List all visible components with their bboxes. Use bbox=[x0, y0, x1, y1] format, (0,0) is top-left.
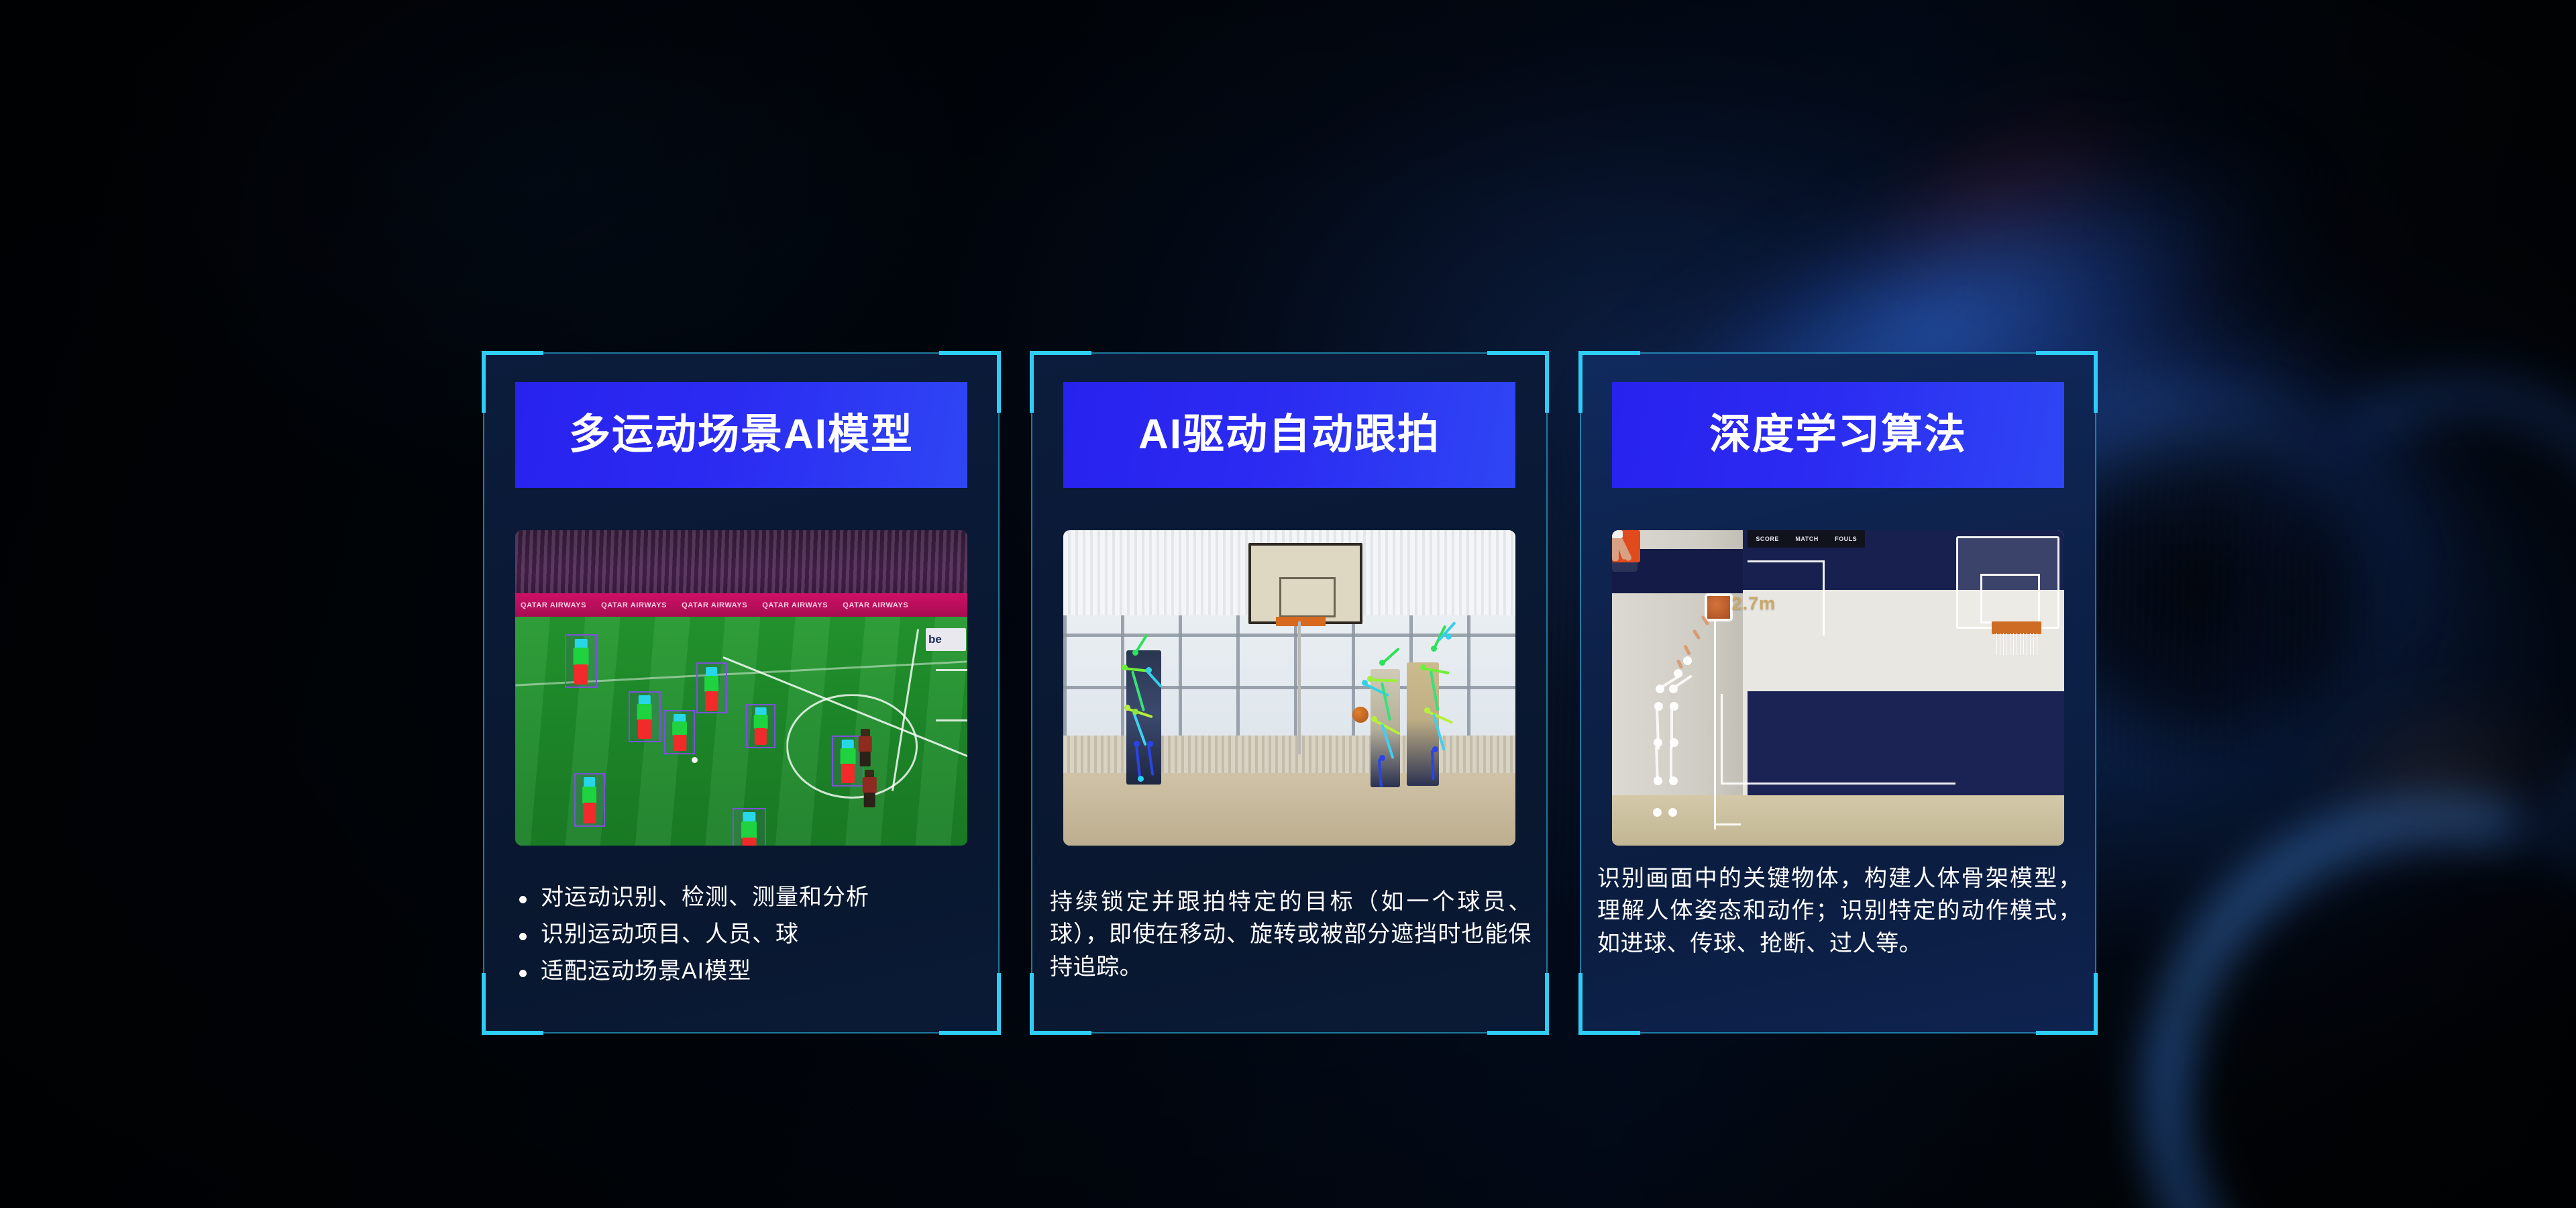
hoop-pole bbox=[1298, 621, 1301, 754]
sponsor-board: QATAR AIRWAYS QATAR AIRWAYS QATAR AIRWAY… bbox=[515, 593, 967, 617]
pose-skeleton bbox=[1118, 638, 1205, 785]
sponsor-text: QATAR AIRWAYS bbox=[682, 601, 747, 609]
pose-keypoint bbox=[1653, 808, 1662, 817]
football-pitch-detection-image: QATAR AIRWAYS QATAR AIRWAYS QATAR AIRWAY… bbox=[515, 530, 967, 846]
corner-bracket-bottom-left bbox=[1578, 973, 1640, 1035]
measure-line-horizontal bbox=[1748, 560, 1825, 562]
measure-line-court-edge bbox=[1721, 783, 1955, 785]
card-edge-bottom bbox=[483, 1032, 1000, 1034]
detection-box bbox=[696, 662, 727, 713]
detection-box bbox=[733, 808, 766, 846]
scoreboard-label: FOULS bbox=[1835, 536, 1857, 542]
card-edge-top bbox=[483, 352, 1000, 354]
backboard bbox=[1248, 543, 1362, 624]
detection-box bbox=[746, 704, 775, 748]
pose-keypoint bbox=[1668, 808, 1677, 817]
measure-line-court-vertical bbox=[1721, 694, 1723, 783]
scoreboard-label: MATCH bbox=[1795, 536, 1818, 542]
pose-bone bbox=[1670, 746, 1672, 784]
card-body-text: 识别画面中的关键物体，构建人体骨架模型，理解人体姿态和动作；识别特定的动作模式，… bbox=[1597, 862, 2082, 960]
list-item: 对运动识别、检测、测量和分析 bbox=[510, 883, 981, 913]
scoreboard-label: SCORE bbox=[1756, 536, 1779, 542]
card-edge-top bbox=[1580, 352, 2096, 354]
card-edge-bottom bbox=[1580, 1032, 2096, 1034]
card-edge-right bbox=[998, 352, 1000, 1034]
feature-description: 持续锁定并跟拍特定的目标（如一个球员、球），即使在移动、旋转或被部分遮挡时也能保… bbox=[1050, 886, 1532, 983]
feature-card-multi-sport-ai-model[interactable]: 多运动场景AI模型 QATAR AIRWAYS QATAR AIRWAYS QA… bbox=[483, 352, 1000, 1034]
undetected-player bbox=[859, 770, 880, 807]
undetected-player bbox=[855, 729, 876, 766]
backboard bbox=[1956, 536, 2059, 629]
measure-line-baseline bbox=[1714, 823, 1741, 825]
card-edge-left bbox=[1031, 352, 1032, 1034]
list-item: 适配运动场景AI模型 bbox=[510, 956, 981, 987]
sponsor-text: QATAR AIRWAYS bbox=[843, 601, 908, 609]
feature-card-row: 多运动场景AI模型 QATAR AIRWAYS QATAR AIRWAYS QA… bbox=[0, 0, 2576, 1208]
sponsor-text: QATAR AIRWAYS bbox=[521, 601, 586, 609]
list-item: 识别运动项目、人员、球 bbox=[510, 919, 981, 950]
basketball-gym-pose-image bbox=[1063, 530, 1515, 846]
card-edge-right bbox=[1546, 352, 1548, 1034]
measure-line-vertical-left bbox=[1714, 615, 1716, 830]
gym-floor bbox=[1612, 795, 2064, 846]
detection-box bbox=[629, 691, 661, 742]
detection-box bbox=[574, 773, 605, 827]
measure-line-vertical-right bbox=[1823, 560, 1825, 636]
card-body-text: 对运动识别、检测、测量和分析 识别运动项目、人员、球 适配运动场景AI模型 bbox=[510, 883, 981, 993]
card-edge-top bbox=[1031, 352, 1548, 354]
feature-bullet-list: 对运动识别、检测、测量和分析 识别运动项目、人员、球 适配运动场景AI模型 bbox=[510, 883, 981, 987]
card-edge-left bbox=[1580, 352, 1581, 1034]
card-edge-right bbox=[2095, 352, 2096, 1034]
corner-bracket-bottom-right bbox=[2036, 973, 2098, 1035]
scoreboard: SCORE MATCH FOULS bbox=[1748, 530, 1865, 548]
ball-tracking-box bbox=[1705, 593, 1733, 621]
card-edge-bottom bbox=[1031, 1032, 1548, 1034]
feature-description: 识别画面中的关键物体，构建人体骨架模型，理解人体姿态和动作；识别特定的动作模式，… bbox=[1597, 862, 2082, 960]
gym-wall-navy-lower bbox=[1748, 691, 2064, 805]
pose-bone bbox=[1670, 708, 1673, 748]
card-title: 多运动场景AI模型 bbox=[569, 414, 914, 456]
shot-measurement-image: SCORE MATCH FOULS 2.7m bbox=[1612, 530, 2064, 846]
card-title: AI驱动自动跟拍 bbox=[1138, 414, 1440, 456]
card-title-banner: 多运动场景AI模型 bbox=[515, 382, 967, 488]
detection-box bbox=[664, 710, 695, 754]
hoop-net bbox=[1996, 633, 2037, 655]
card-title-banner: AI驱动自动跟拍 bbox=[1063, 382, 1515, 488]
feature-card-deep-learning-algorithm[interactable]: 深度学习算法 SCORE MATCH FOULS bbox=[1580, 352, 2096, 1034]
side-board: be bbox=[926, 628, 966, 651]
feature-card-ai-auto-tracking[interactable]: AI驱动自动跟拍 bbox=[1031, 352, 1548, 1034]
sponsor-text: QATAR AIRWAYS bbox=[762, 601, 828, 609]
card-body-text: 持续锁定并跟拍特定的目标（如一个球员、球），即使在移动、旋转或被部分遮挡时也能保… bbox=[1050, 886, 1532, 983]
card-edge-left bbox=[483, 352, 484, 1034]
card-title: 深度学习算法 bbox=[1709, 414, 1967, 456]
pose-skeleton bbox=[1416, 631, 1510, 785]
detection-box bbox=[565, 634, 597, 688]
measurement-label: 2.7m bbox=[1732, 593, 1776, 614]
sponsor-text: QATAR AIRWAYS bbox=[601, 601, 667, 609]
slide-canvas: 多运动场景AI模型 QATAR AIRWAYS QATAR AIRWAYS QA… bbox=[0, 0, 2576, 1208]
card-title-banner: 深度学习算法 bbox=[1612, 382, 2064, 488]
